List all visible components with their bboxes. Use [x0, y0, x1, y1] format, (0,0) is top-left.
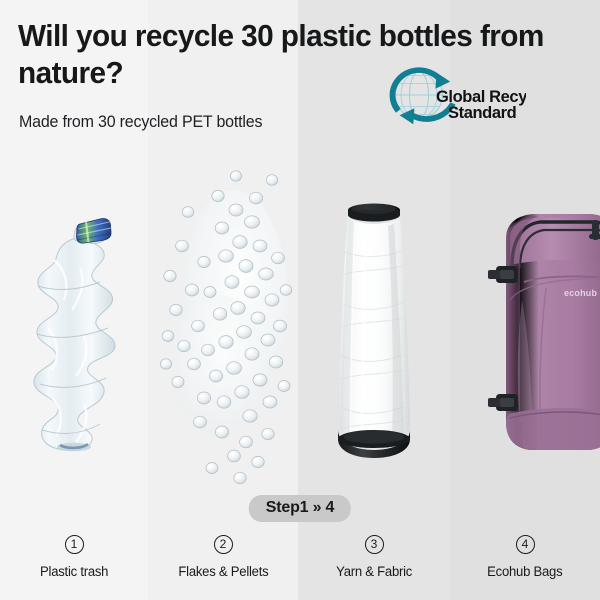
step-label-2: Flakes & Pellets [178, 564, 268, 579]
step-legend: 1 Plastic trash 2 Flakes & Pellets 3 Yar… [0, 535, 600, 600]
image-cell-flakes-pellets [148, 150, 298, 490]
header: Will you recycle 30 plastic bottles from… [0, 0, 600, 150]
step-item-4[interactable]: 4 Ecohub Bags [450, 535, 600, 600]
bottle-body [34, 238, 115, 450]
step-label-1: Plastic trash [40, 564, 108, 579]
purple-backpack-image: ecohub [480, 208, 600, 458]
step-number-1: 1 [65, 535, 84, 554]
brand-logo-text: ecohub [564, 288, 598, 298]
process-image-strip: ecohub [0, 150, 600, 490]
side-buckle-top [488, 266, 518, 283]
step-number-2: 2 [214, 535, 233, 554]
step-label-3: Yarn & Fabric [336, 564, 412, 579]
clear-plastic-pellets-image [148, 150, 298, 490]
step-label-4: Ecohub Bags [487, 564, 562, 579]
grs-line-2: Standard [448, 104, 516, 122]
spool-top-cap [348, 204, 400, 222]
step-item-1[interactable]: 1 Plastic trash [0, 535, 148, 600]
image-cell-yarn-fabric [298, 150, 450, 490]
side-buckle-bottom [488, 394, 518, 411]
grs-certification-logo: Global Recycled Standard [378, 64, 526, 126]
image-cell-ecohub-bags: ecohub [450, 150, 600, 490]
image-cell-plastic-trash [0, 150, 148, 490]
step-number-3: 3 [365, 535, 384, 554]
page-subtitle: Made from 30 recycled PET bottles [19, 113, 262, 132]
step-item-2[interactable]: 2 Flakes & Pellets [148, 535, 298, 600]
spool-bottom-cap [338, 430, 410, 458]
bottle-cap [77, 219, 112, 244]
step-item-3[interactable]: 3 Yarn & Fabric [298, 535, 450, 600]
white-yarn-cone-image [326, 198, 422, 460]
crushed-plastic-bottle-image [30, 208, 118, 458]
backpack-bottom-panel [506, 408, 600, 450]
step-progress-badge[interactable]: Step1 » 4 [249, 495, 351, 522]
step-number-4: 4 [516, 535, 535, 554]
